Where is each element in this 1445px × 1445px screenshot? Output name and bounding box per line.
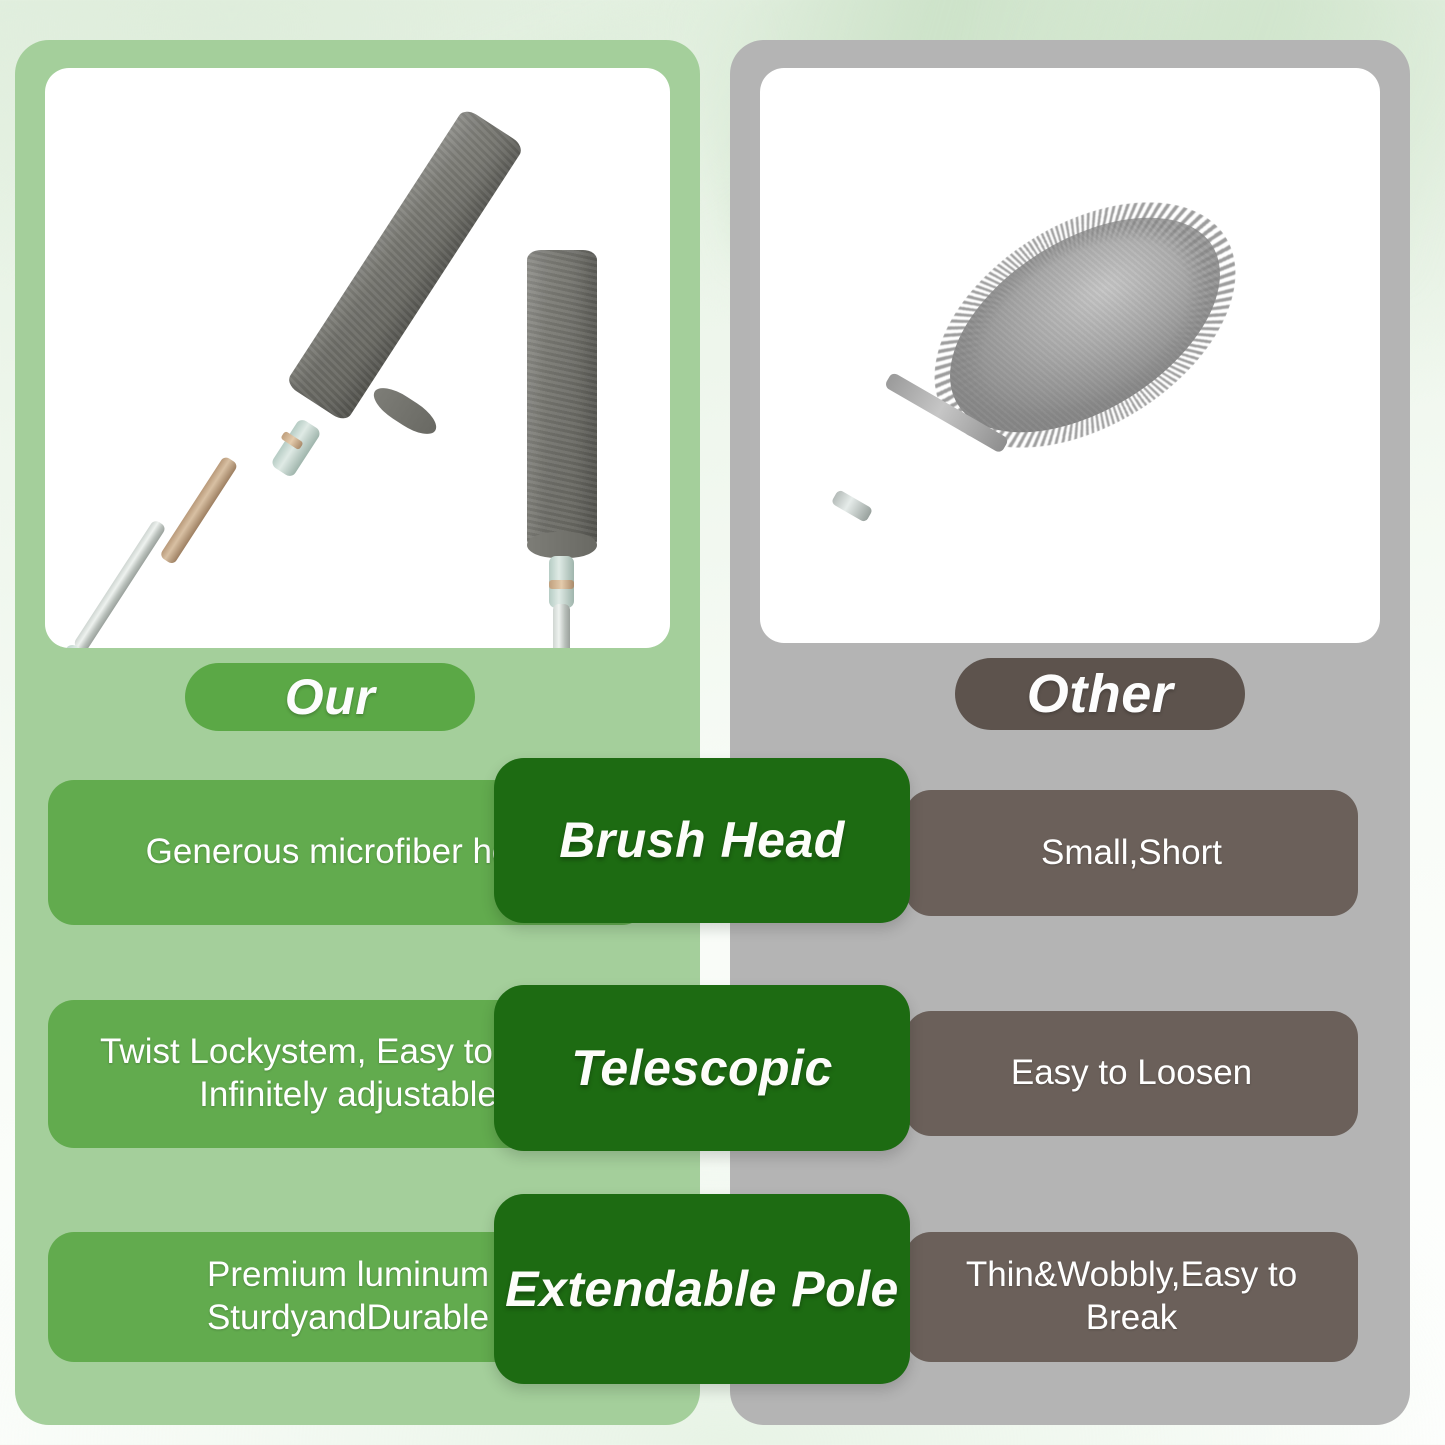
feather-duster-illustration — [760, 68, 1380, 643]
other-feature-value: Easy to Loosen — [905, 1011, 1358, 1136]
duster-head-long — [285, 107, 525, 423]
other-feature-value: Thin&Wobbly,Easy to Break — [905, 1232, 1358, 1362]
duster-head-cap — [368, 380, 443, 441]
our-product-image-card — [45, 68, 670, 648]
other-product-image-card — [760, 68, 1380, 643]
other-feature-value: Small,Short — [905, 790, 1358, 916]
duster-head-short — [527, 250, 597, 550]
other-header-badge: Other — [955, 658, 1245, 730]
duster-short-lock-ring — [549, 580, 574, 589]
duster-pole-steel-section — [73, 519, 167, 648]
feature-name-badge: Telescopic — [494, 985, 910, 1151]
duster-short-pole — [553, 604, 570, 648]
feature-name-badge: Extendable Pole — [494, 1194, 910, 1384]
feather-duster-ferrule — [831, 489, 874, 523]
feature-name-badge: Brush Head — [494, 758, 910, 923]
duster-pole-bronze-section — [159, 455, 239, 565]
gap-duster-illustration — [45, 68, 670, 648]
our-header-badge: Our — [185, 663, 475, 731]
duster-head-short-cap — [527, 532, 597, 558]
